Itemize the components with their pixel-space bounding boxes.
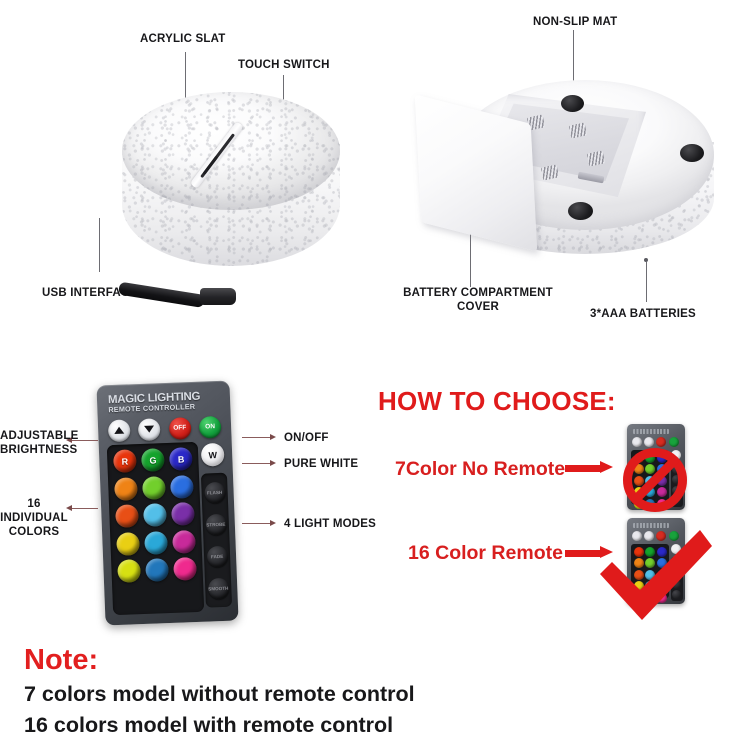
brightness-up-button[interactable] — [108, 419, 131, 442]
note-line-2: 16 colors model with remote control — [24, 713, 393, 738]
remote-control[interactable]: MAGIC LIGHTING REMOTE CONTROLLER OFF ON … — [96, 381, 238, 626]
color-button-grid: RGB — [113, 447, 198, 583]
how-to-choose-title: HOW TO CHOOSE: — [378, 386, 616, 417]
brightness-down-button[interactable] — [138, 418, 161, 441]
color-button-13[interactable] — [117, 559, 141, 583]
color-button-8[interactable] — [143, 503, 167, 527]
label-non-slip-mat: NON-SLIP MAT — [533, 15, 617, 29]
mode-button-fade[interactable]: FADE — [206, 545, 228, 567]
label-adjustable-brightness: ADJUSTABLE BRIGHTNESS — [0, 429, 64, 457]
mode-button-strobe[interactable]: STROBE — [205, 513, 227, 535]
label-touch-switch: TOUCH SWITCH — [238, 58, 330, 72]
check-mark-icon — [596, 528, 716, 624]
color-button-2[interactable]: G — [141, 448, 165, 472]
infographic-canvas: ACRYLIC SLAT TOUCH SWITCH USB INTERFACE … — [0, 0, 750, 750]
arrow-modes — [270, 520, 276, 526]
label-4-light-modes: 4 LIGHT MODES — [284, 517, 376, 531]
arrow-pure-white — [270, 460, 276, 466]
light-mode-column: FLASHSTROBEFADESMOOTH — [201, 473, 232, 608]
note-line-1: 7 colors model without remote control — [24, 682, 415, 707]
mini-top-row — [632, 437, 681, 447]
option-label-no-remote: 7Color No Remote — [395, 458, 565, 481]
leader-aaa-batteries — [646, 262, 647, 302]
color-button-15[interactable] — [173, 557, 197, 581]
color-button-7[interactable] — [115, 504, 139, 528]
leader-modes — [242, 523, 270, 524]
label-acrylic-slat: ACRYLIC SLAT — [140, 32, 225, 46]
non-slip-mat-pad — [561, 95, 584, 112]
color-button-10[interactable] — [116, 532, 140, 556]
color-button-3[interactable]: B — [169, 447, 193, 471]
arrow-onoff — [270, 434, 276, 440]
lamp-base-bottom-view — [418, 80, 718, 270]
label-pure-white: PURE WHITE — [284, 457, 358, 471]
remote-top-row: OFF ON — [108, 415, 222, 442]
usb-cable — [118, 282, 205, 308]
label-on-off: ON/OFF — [284, 431, 329, 445]
leader-colors — [72, 508, 98, 509]
prohibited-icon — [623, 448, 687, 512]
color-button-pad: RGB — [107, 442, 204, 615]
arrow-to-no-remote — [565, 461, 613, 474]
leader-pure-white — [242, 463, 270, 464]
color-button-1[interactable]: R — [113, 449, 137, 473]
non-slip-mat-pad — [680, 144, 704, 162]
label-aaa-batteries: 3*AAA BATTERIES — [590, 307, 696, 321]
color-button-6[interactable] — [170, 474, 194, 498]
color-button-11[interactable] — [144, 531, 168, 555]
color-button-12[interactable] — [172, 529, 196, 553]
leader-onoff — [242, 437, 270, 438]
power-off-button[interactable]: OFF — [168, 417, 191, 440]
color-button-4[interactable] — [114, 477, 138, 501]
usb-plug — [200, 288, 236, 305]
non-slip-mat-pad — [568, 202, 593, 220]
mode-button-flash[interactable]: FLASH — [204, 481, 226, 503]
label-battery-cover: BATTERY COMPARTMENT COVER — [398, 286, 558, 314]
color-button-14[interactable] — [145, 558, 169, 582]
mode-button-smooth[interactable]: SMOOTH — [207, 577, 229, 599]
note-title: Note: — [24, 644, 98, 677]
label-16-individual-colors: 16 INDIVIDUAL COLORS — [0, 497, 68, 539]
power-on-button[interactable]: ON — [199, 415, 222, 438]
lamp-base-top-view — [122, 92, 340, 277]
leader-usb — [99, 218, 100, 272]
option-label-16-remote: 16 Color Remote — [408, 542, 563, 565]
remote-brand: MAGIC LIGHTING REMOTE CONTROLLER — [108, 390, 215, 414]
color-button-5[interactable] — [142, 476, 166, 500]
color-button-9[interactable] — [171, 502, 195, 526]
